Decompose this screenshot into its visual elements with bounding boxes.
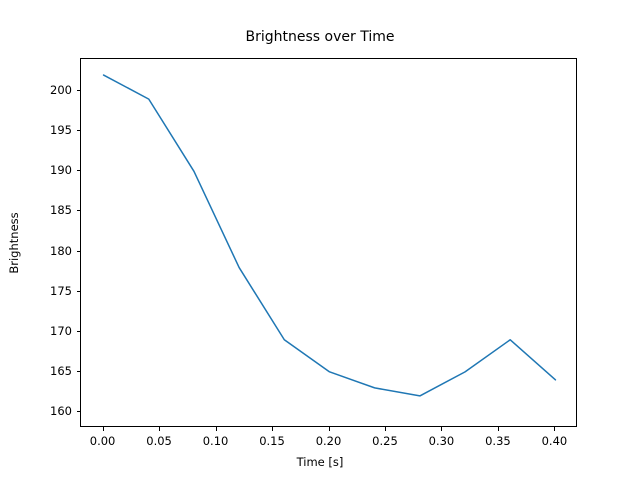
x-tick-label: 0.05 <box>146 434 172 448</box>
x-tick-label: 0.20 <box>316 434 342 448</box>
x-tick-label: 0.30 <box>429 434 455 448</box>
y-tick-label: 160 <box>34 404 72 418</box>
x-tick-label: 0.15 <box>259 434 285 448</box>
y-tick-label: 180 <box>34 244 72 258</box>
x-tick-label: 0.10 <box>203 434 229 448</box>
x-tick-label: 0.25 <box>372 434 398 448</box>
plot-area <box>80 58 577 427</box>
y-tick-label: 175 <box>34 284 72 298</box>
matplotlib-figure: Brightness over Time Brightness Time [s]… <box>0 0 640 480</box>
x-tick-label: 0.40 <box>542 434 568 448</box>
x-tick-label: 0.35 <box>485 434 511 448</box>
y-tick-label: 195 <box>34 123 72 137</box>
y-tick-label: 165 <box>34 364 72 378</box>
y-tick-label: 200 <box>34 83 72 97</box>
x-tick-label: 0.00 <box>90 434 116 448</box>
line-plot <box>81 59 578 428</box>
y-axis-label: Brightness <box>7 212 21 273</box>
y-tick-label: 170 <box>34 324 72 338</box>
y-tick-label: 190 <box>34 163 72 177</box>
y-tick-label: 185 <box>34 203 72 217</box>
x-axis-label: Time [s] <box>0 455 640 469</box>
chart-title: Brightness over Time <box>0 29 640 45</box>
brightness-line <box>104 75 556 396</box>
